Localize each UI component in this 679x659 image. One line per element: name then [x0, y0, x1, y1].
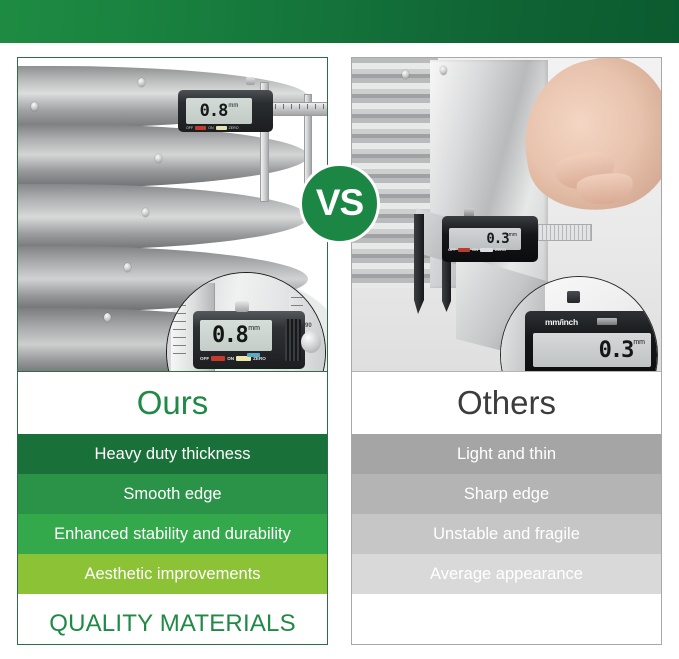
caliper-zero-label: ZERO [495, 247, 506, 252]
caliper-reading-unit-magnified: mm [248, 325, 260, 332]
caliper-reading-value: 0.8 [200, 101, 228, 121]
magnified-detail-inset-right: mm/inch 0.3 mm OFF ON ZERO [500, 276, 658, 372]
caliper-indicator [247, 353, 260, 357]
rivet [138, 78, 145, 87]
others-feature-row: Average appearance [352, 554, 661, 594]
caliper-thumb-screw-magnified [235, 301, 249, 312]
caliper-photo-right: 0.3 mm OFF ON ZERO [408, 208, 583, 268]
caliper-reading-value-magnified: 0.8 [212, 323, 247, 348]
caliper-jaw [414, 214, 424, 314]
others-feature-row: Unstable and fragile [352, 514, 661, 554]
others-feature-row: Light and thin [352, 434, 661, 474]
caliper-body: 0.3 mm [442, 216, 538, 262]
vs-label: VS [316, 184, 363, 221]
caliper-photo-left: 0.8 mm OFF ON ZERO [168, 84, 327, 136]
rivet [124, 263, 131, 272]
caliper-button-row: OFF ON ZERO [186, 125, 266, 131]
caliper-reading-unit-magnified: mm [633, 339, 645, 346]
caliper-on-label: ON [208, 126, 213, 130]
ours-feature-row: Smooth edge [18, 474, 327, 514]
caliper-on-label-magnified: ON [227, 356, 234, 361]
ours-panel: 0.8 mm OFF ON ZERO [17, 57, 328, 645]
ours-feature-list: Heavy duty thickness Smooth edge Enhance… [18, 434, 327, 594]
magnified-detail-inset-left: 90 0.8 mm OFF ON ZERO [166, 272, 326, 372]
rivet [142, 208, 149, 217]
caliper-power-switch [195, 126, 206, 130]
caliper-power-switch-magnified [211, 356, 225, 361]
caliper-on-label: ON [472, 247, 478, 252]
others-feature-row: Sharp edge [352, 474, 661, 514]
rivet [402, 70, 409, 79]
caliper-reading-unit: mm [228, 103, 238, 109]
caliper-off-label-magnified: OFF [200, 356, 209, 361]
rivet [155, 154, 162, 163]
top-green-banner [0, 0, 679, 43]
caliper-reading-value: 0.3 [486, 231, 508, 247]
caliper-lcd-magnified: 0.8 mm [200, 320, 272, 351]
caliper-mode-switch [597, 318, 617, 325]
caliper-lcd: 0.8 mm [186, 98, 252, 124]
others-heading: Others [352, 372, 661, 434]
caliper-button-row-magnified: OFF ON ZERO [535, 371, 655, 372]
caliper-zero-label: ZERO [229, 126, 239, 130]
ours-footer-caption: QUALITY MATERIALS [18, 594, 327, 645]
others-feature-list: Light and thin Sharp edge Unstable and f… [352, 434, 661, 594]
caliper-power-switch [458, 248, 470, 252]
ours-feature-row: Heavy duty thickness [18, 434, 327, 474]
caliper-reading-unit: mm [509, 232, 517, 238]
caliper-body-magnified: mm/inch 0.3 mm OFF ON ZERO [525, 311, 658, 372]
rivet [31, 102, 38, 111]
others-panel: 0.3 mm OFF ON ZERO mm/inch [351, 57, 662, 645]
caliper-scale-label: 90 [305, 323, 312, 329]
caliper-button-row: OFF ON ZERO [448, 246, 534, 253]
caliper-roller [301, 331, 321, 353]
caliper-scale-rail [268, 102, 327, 116]
caliper-body: 0.8 mm OFF ON ZERO [178, 90, 273, 132]
rivet [104, 313, 111, 322]
caliper-zero-switch [480, 248, 493, 252]
ours-heading: Ours [18, 372, 327, 434]
caliper-button-row-magnified: OFF ON ZERO [200, 354, 286, 362]
caliper-mode-label: mm/inch [545, 317, 578, 327]
caliper-off-label: OFF [448, 247, 456, 252]
caliper-body-magnified: 0.8 mm OFF ON ZERO [193, 311, 305, 369]
rivet [440, 66, 447, 75]
others-product-photo: 0.3 mm OFF ON ZERO mm/inch [352, 58, 661, 372]
caliper-off-label: OFF [186, 126, 193, 130]
ours-product-photo: 0.8 mm OFF ON ZERO [18, 58, 327, 372]
vs-badge: VS [299, 163, 380, 244]
caliper-thumb-screw [246, 77, 255, 85]
caliper-lcd-magnified: 0.3 mm [533, 333, 651, 367]
caliper-thumb-screw-magnified [567, 291, 580, 303]
ours-feature-row: Aesthetic improvements [18, 554, 327, 594]
caliper-reading-value-magnified: 0.3 [599, 338, 633, 363]
caliper-grip-ribs [285, 319, 301, 361]
comparison-infographic: 0.8 mm OFF ON ZERO [0, 0, 679, 659]
caliper-zero-switch [216, 126, 227, 130]
others-footer-empty [352, 594, 661, 645]
caliper-scale-rail [534, 224, 592, 241]
ours-feature-row: Enhanced stability and durability [18, 514, 327, 554]
